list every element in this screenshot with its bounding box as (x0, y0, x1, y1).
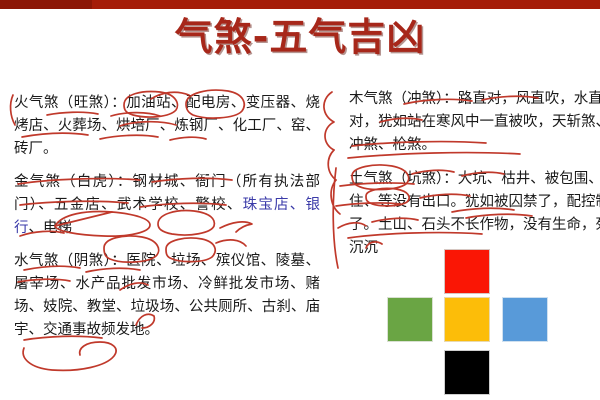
metal-text-after: 、电梯 (29, 220, 73, 236)
swatch-earth-yellow (444, 297, 490, 342)
slide-canvas: 气煞-五气吉凶 火气煞（旺煞）：加油站、配电房、变压器、烧烤店、火葬场、烘培厂、… (0, 0, 600, 400)
swatch-fire-red (444, 249, 490, 294)
paragraph-fire-qi-sha: 火气煞（旺煞）：加油站、配电房、变压器、烧烤店、火葬场、烘培厂、炼钢厂、化工厂、… (14, 92, 320, 161)
paragraph-earth-qi-sha: 土气煞（坑煞）：大坑、枯井、被包围、被圈住、等没有出口。犹如被囚禁了，配控制了。… (349, 168, 600, 260)
five-element-color-swatches (387, 249, 552, 397)
swatch-metal-blue (502, 297, 548, 342)
top-accent-bar-segment (0, 0, 92, 9)
swatch-water-black (444, 350, 490, 395)
page-title: 气煞-五气吉凶 (0, 14, 600, 60)
swatch-wood-green (387, 297, 433, 342)
paragraph-water-qi-sha: 水气煞（阴煞）：医院、垃场、殡仪馆、陵墓、屠宰场、水产品批发市场、冷鲜批发市场、… (14, 250, 320, 342)
top-accent-bar (0, 0, 600, 9)
paragraph-wood-qi-sha: 木气煞（冲煞）：路直对，风直吹，水直对，犹如站在寒风中一直被吹，天斩煞、冲煞、枪… (349, 88, 600, 157)
right-text-column: 木气煞（冲煞）：路直对，风直吹，水直对，犹如站在寒风中一直被吹，天斩煞、冲煞、枪… (349, 88, 600, 270)
paragraph-metal-qi-sha: 金气煞（白虎）：钢材城、衙门（所有执法部门）、五金店、武术学校、警校、珠宝店、银… (14, 171, 320, 240)
left-text-column: 火气煞（旺煞）：加油站、配电房、变压器、烧烤店、火葬场、烘培厂、炼钢厂、化工厂、… (14, 92, 320, 352)
